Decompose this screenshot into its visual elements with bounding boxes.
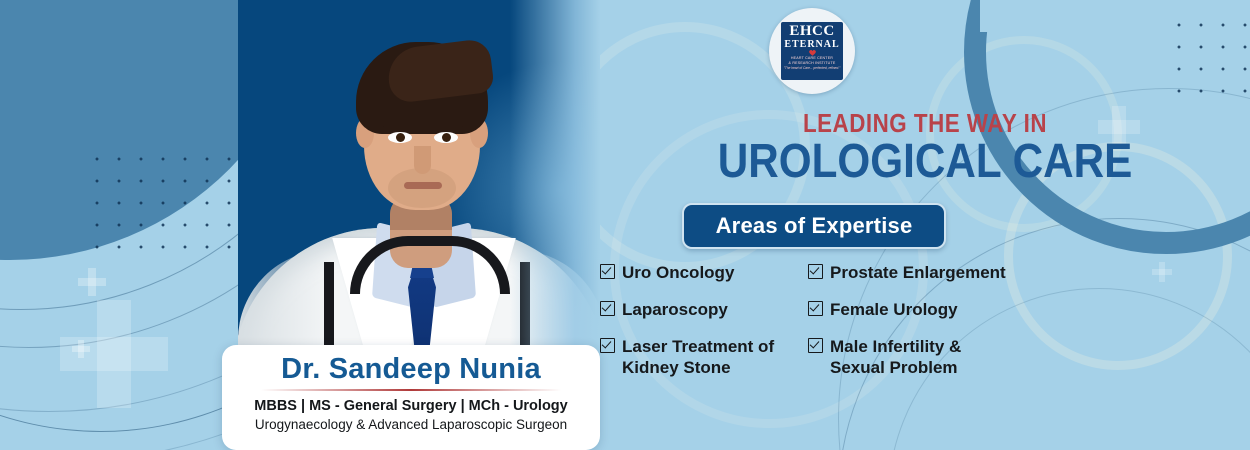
list-item[interactable]: Male Infertility & Sexual Problem <box>808 336 1016 378</box>
list-item[interactable]: Uro Oncology <box>600 262 808 283</box>
expertise-label: Male Infertility & Sexual Problem <box>830 336 1016 378</box>
expertise-column-right: Prostate Enlargement Female Urology Male… <box>808 262 1016 394</box>
banner-headline: UROLOGICAL CARE <box>639 137 1211 187</box>
checkbox-checked-icon <box>600 301 615 316</box>
doctor-specialty: Urogynaecology & Advanced Laparoscopic S… <box>222 416 600 434</box>
checkbox-checked-icon <box>808 264 823 279</box>
checkbox-checked-icon <box>600 264 615 279</box>
expertise-label: Laser Treatment of Kidney Stone <box>622 336 808 378</box>
doctor-name: Dr. Sandeep Nunia <box>222 352 600 386</box>
medical-cross-icon <box>72 340 90 358</box>
expertise-label: Uro Oncology <box>622 262 734 283</box>
checkbox-checked-icon <box>600 338 615 353</box>
expertise-column-left: Uro Oncology Laparoscopy Laser Treatment… <box>600 262 808 394</box>
areas-of-expertise-button[interactable]: Areas of Expertise <box>682 203 946 249</box>
list-item[interactable]: Prostate Enlargement <box>808 262 1016 283</box>
expertise-label: Prostate Enlargement <box>830 262 1006 283</box>
checkbox-checked-icon <box>808 301 823 316</box>
expertise-label: Female Urology <box>830 299 958 320</box>
list-item[interactable]: Laparoscopy <box>600 299 808 320</box>
doctor-name-card: Dr. Sandeep Nunia MBBS | MS - General Su… <box>222 345 600 450</box>
checkbox-checked-icon <box>808 338 823 353</box>
list-item[interactable]: Female Urology <box>808 299 1016 320</box>
medical-cross-icon <box>78 268 106 296</box>
banner-content: LEADING THE WAY IN UROLOGICAL CARE Areas… <box>600 0 1250 450</box>
name-divider <box>261 389 561 391</box>
urology-care-banner: EHCC ETERNAL HEART CARE CENTER & RESEARC… <box>0 0 1250 450</box>
medical-cross-icon <box>60 300 168 408</box>
doctor-degrees: MBBS | MS - General Surgery | MCh - Urol… <box>222 397 600 416</box>
list-item[interactable]: Laser Treatment of Kidney Stone <box>600 336 808 378</box>
expertise-label: Laparoscopy <box>622 299 728 320</box>
dot-grid-pattern-left <box>86 148 238 260</box>
expertise-columns: Uro Oncology Laparoscopy Laser Treatment… <box>600 262 1250 394</box>
